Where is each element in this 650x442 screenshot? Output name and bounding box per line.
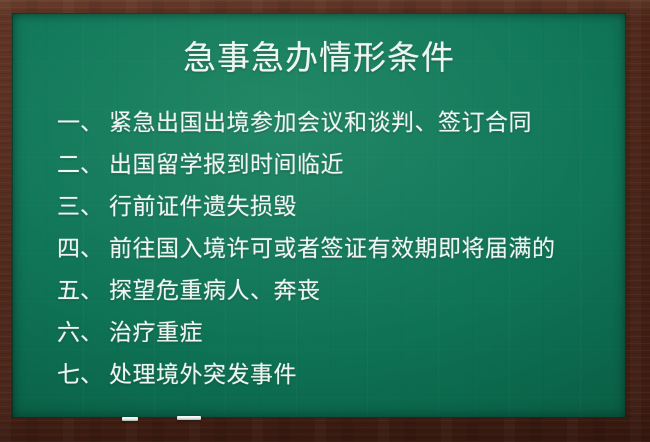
list-item-index: 七、 <box>57 353 109 395</box>
list-item-index: 六、 <box>57 311 109 353</box>
list-item-text: 行前证件遗失损毁 <box>109 185 297 227</box>
condition-list: 一、 紧急出国出境参加会议和谈判、签订合同 二、 出国留学报到时间临近 三、 行… <box>57 101 616 395</box>
list-item-index: 五、 <box>57 269 109 311</box>
list-item-text: 处理境外突发事件 <box>109 353 297 395</box>
list-item: 七、 处理境外突发事件 <box>57 353 616 395</box>
board-title: 急事急办情形条件 <box>12 37 626 79</box>
list-item: 三、 行前证件遗失损毁 <box>57 185 616 227</box>
list-item: 二、 出国留学报到时间临近 <box>57 143 616 185</box>
list-item: 一、 紧急出国出境参加会议和谈判、签订合同 <box>57 101 616 143</box>
list-item-index: 一、 <box>57 101 109 143</box>
list-item: 六、 治疗重症 <box>57 311 616 353</box>
chalkboard-wooden-frame: 急事急办情形条件 一、 紧急出国出境参加会议和谈判、签订合同 二、 出国留学报到… <box>0 0 650 442</box>
chalkboard-surface: 急事急办情形条件 一、 紧急出国出境参加会议和谈判、签订合同 二、 出国留学报到… <box>12 13 626 418</box>
chalk-stick-short-icon <box>122 417 138 421</box>
list-item-text: 紧急出国出境参加会议和谈判、签订合同 <box>109 101 532 143</box>
list-item-index: 二、 <box>57 143 109 185</box>
chalk-stick-long-icon <box>177 416 201 420</box>
list-item-text: 治疗重症 <box>109 311 203 353</box>
list-item-text: 出国留学报到时间临近 <box>109 143 344 185</box>
list-item-text: 前往国入境许可或者签证有效期即将届满的 <box>109 227 556 269</box>
list-item: 五、 探望危重病人、奔丧 <box>57 269 616 311</box>
list-item-index: 三、 <box>57 185 109 227</box>
list-item: 四、 前往国入境许可或者签证有效期即将届满的 <box>57 227 616 269</box>
list-item-index: 四、 <box>57 227 109 269</box>
list-item-text: 探望危重病人、奔丧 <box>109 269 321 311</box>
